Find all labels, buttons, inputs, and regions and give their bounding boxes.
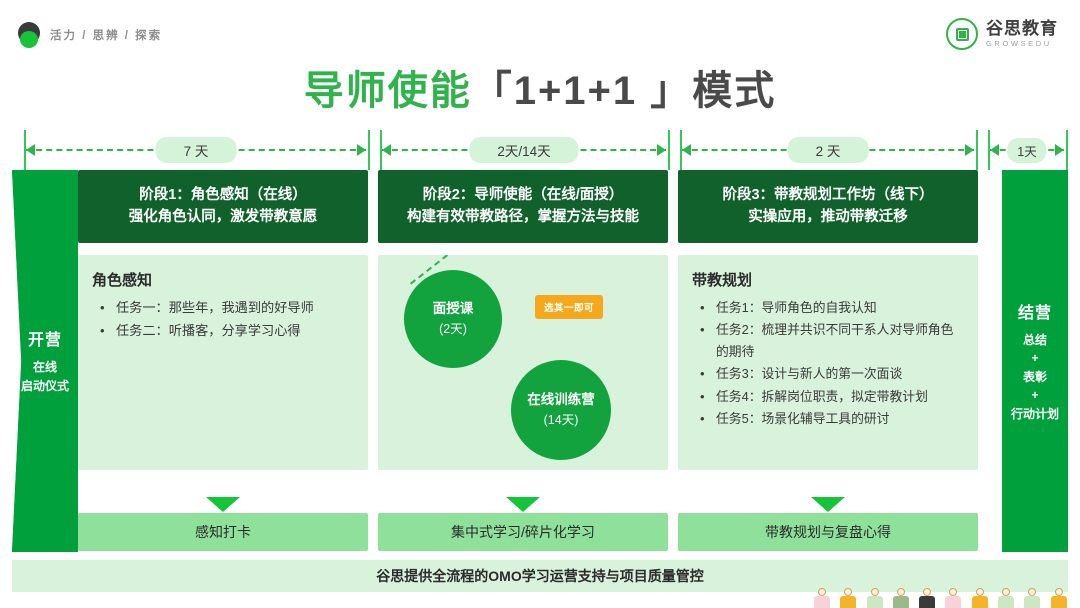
- person-icon: [1049, 588, 1068, 608]
- timeline-tick: [368, 130, 370, 170]
- timeline-segment-4: 1天: [990, 142, 1064, 158]
- stage-2-column: 阶段2：导师使能（在线/面授） 构建有效带教路径，掌握方法与技能 面授课 (2天…: [378, 170, 668, 470]
- task-item: 任务二：听播客，分享学习心得: [98, 320, 354, 341]
- option-circle-offline-duration: (2天): [439, 321, 467, 338]
- stage-2-body: 面授课 (2天) 在线训练营 (14天) 选其一即可: [378, 255, 668, 470]
- option-circle-offline-name: 面授课: [433, 300, 474, 318]
- timeline-duration-label: 1天: [1007, 138, 1046, 163]
- person-icon: [996, 588, 1015, 608]
- stage-2-head-line1: 阶段2：导师使能（在线/面授）: [384, 184, 662, 206]
- stage-3-head-line2: 实操应用，推动带教迁移: [684, 206, 972, 228]
- option-circle-online-name: 在线训练营: [527, 391, 595, 409]
- timeline-duration-label: 7 天: [156, 137, 237, 163]
- stage-1-head-line1: 阶段1：角色感知（在线）: [84, 184, 362, 206]
- stage-1-head-line2: 强化角色认同，激发带教意愿: [84, 206, 362, 228]
- decorative-people-illustration: [812, 588, 1068, 608]
- option-circle-online-duration: (14天): [544, 412, 579, 429]
- person-icon: [970, 588, 989, 608]
- person-icon: [838, 588, 857, 608]
- top-bar: 活力 / 思辨 / 探索 谷思教育 GROWSEDU: [0, 0, 1080, 60]
- option-circle-online: 在线训练营 (14天): [511, 360, 611, 460]
- chevron-down-icon: [506, 497, 540, 512]
- chevron-down-icon: [811, 497, 845, 512]
- brand-left: 活力 / 思辨 / 探索: [18, 22, 162, 48]
- stage-3-header: 阶段3：带教规划工作坊（线下） 实操应用，推动带教迁移: [678, 170, 978, 243]
- stage-3-task-list: 任务1：导师角色的自我认知 任务2：梳理并共识不同干系人对导师角色的期待 任务3…: [692, 297, 964, 430]
- logo-chinese-name: 谷思教育: [986, 20, 1058, 37]
- timeline-segment-1: 7 天: [26, 142, 366, 158]
- timeline-tick: [1066, 130, 1068, 170]
- person-icon: [891, 588, 910, 608]
- page-title-green: 导师使能: [304, 69, 472, 113]
- growsedu-mark-icon: [946, 18, 978, 50]
- stage-2-outcome: 集中式学习/碎片化学习: [378, 513, 668, 551]
- stage-3-body: 带教规划 任务1：导师角色的自我认知 任务2：梳理并共识不同干系人对导师角色的期…: [678, 255, 978, 470]
- person-icon: [812, 588, 831, 608]
- stage-3-outcome: 带教规划与复盘心得: [678, 513, 978, 551]
- timeline-duration-label: 2 天: [788, 137, 869, 163]
- chevron-down-icon: [206, 497, 240, 512]
- slide-canvas: 活力 / 思辨 / 探索 谷思教育 GROWSEDU 导师使能「1+1+1 」模…: [0, 0, 1080, 608]
- logo-english-name: GROWSEDU: [986, 40, 1058, 48]
- timeline-segment-2: 2天/14天: [382, 142, 666, 158]
- kickoff-banner: 开营 在线 启动仪式: [12, 170, 78, 552]
- stage-3-column: 阶段3：带教规划工作坊（线下） 实操应用，推动带教迁移 带教规划 任务1：导师角…: [678, 170, 978, 470]
- stage-1-outcome: 感知打卡: [78, 513, 368, 551]
- stage-1-header: 阶段1：角色感知（在线） 强化角色认同，激发带教意愿: [78, 170, 368, 243]
- closing-sub-4: +: [1011, 386, 1059, 405]
- stage-3-body-title: 带教规划: [692, 269, 964, 290]
- person-icon: [865, 588, 884, 608]
- person-icon: [917, 588, 936, 608]
- timeline-segment-3: 2 天: [682, 142, 974, 158]
- brand-dot-icon: [18, 22, 40, 48]
- person-icon: [943, 588, 962, 608]
- page-title: 导师使能「1+1+1 」模式: [0, 58, 1080, 116]
- stage-1-task-list: 任务一：那些年，我遇到的好导师 任务二：听播客，分享学习心得: [92, 297, 354, 342]
- kickoff-title: 开营: [28, 326, 62, 350]
- task-item: 任务一：那些年，我遇到的好导师: [98, 297, 354, 318]
- closing-sub-1: 总结: [1011, 331, 1059, 350]
- closing-title: 结营: [1018, 299, 1052, 323]
- kickoff-sub-1: 在线: [21, 358, 69, 377]
- timeline-duration-label: 2天/14天: [469, 137, 578, 163]
- company-logo: 谷思教育 GROWSEDU: [946, 18, 1058, 50]
- closing-sub-2: +: [1011, 349, 1059, 368]
- task-item: 任务1：导师角色的自我认知: [698, 297, 964, 318]
- stage-1-body: 角色感知 任务一：那些年，我遇到的好导师 任务二：听播客，分享学习心得: [78, 255, 368, 470]
- closing-sub-3: 表彰: [1011, 368, 1059, 387]
- task-item: 任务3：设计与新人的第一次面谈: [698, 363, 964, 384]
- stage-2-head-line2: 构建有效带教路径，掌握方法与技能: [384, 206, 662, 228]
- task-item: 任务5：场景化辅导工具的研讨: [698, 408, 964, 429]
- task-item: 任务4：拆解岗位职责，拟定带教计划: [698, 386, 964, 407]
- stage-2-header: 阶段2：导师使能（在线/面授） 构建有效带教路径，掌握方法与技能: [378, 170, 668, 243]
- closing-banner: 结营 总结 + 表彰 + 行动计划: [1002, 170, 1068, 552]
- brand-tagline: 活力 / 思辨 / 探索: [50, 27, 162, 43]
- timeline-tick: [976, 130, 978, 170]
- timeline: 7 天 2天/14天 2 天 1天: [12, 130, 1068, 170]
- stage-1-column: 阶段1：角色感知（在线） 强化角色认同，激发带教意愿 角色感知 任务一：那些年，…: [78, 170, 368, 470]
- task-item: 任务2：梳理并共识不同干系人对导师角色的期待: [698, 319, 964, 362]
- page-title-dark: 「1+1+1 」模式: [472, 69, 777, 113]
- choose-one-badge: 选其一即可: [535, 295, 603, 319]
- person-icon: [1022, 588, 1041, 608]
- kickoff-sub-2: 启动仪式: [21, 377, 69, 396]
- option-circle-offline: 面授课 (2天): [404, 270, 502, 368]
- timeline-tick: [668, 130, 670, 170]
- stage-3-head-line1: 阶段3：带教规划工作坊（线下）: [684, 184, 972, 206]
- stage-1-body-title: 角色感知: [92, 269, 354, 290]
- closing-sub-5: 行动计划: [1011, 405, 1059, 424]
